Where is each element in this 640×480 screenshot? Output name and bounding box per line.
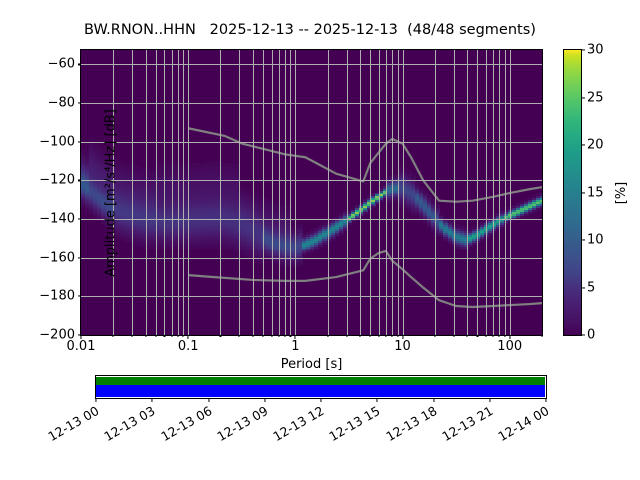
- x-tick-mark: [370, 335, 371, 337]
- y-axis-label: Amplitude [m²/s⁴/Hz] [dB]: [104, 93, 119, 293]
- x-tick-mark: [290, 335, 291, 337]
- gridline-horizontal: [81, 258, 542, 259]
- gridline-vertical: [486, 50, 487, 335]
- timeline-plot-area: [96, 376, 546, 398]
- x-tick-mark: [385, 335, 386, 337]
- gridline-horizontal: [81, 103, 542, 104]
- x-tick-mark: [434, 335, 435, 337]
- gridline-vertical: [505, 50, 506, 335]
- x-tick-mark: [346, 335, 347, 337]
- y-tick-label: −180: [39, 289, 75, 304]
- coverage-bar-data: [96, 385, 545, 397]
- x-tick-mark: [177, 335, 178, 337]
- x-axis-label: Period [s]: [81, 357, 542, 372]
- x-tick-mark: [239, 335, 240, 337]
- gridline-vertical: [164, 50, 165, 335]
- timeline-tick-label: 12-13 03: [102, 403, 158, 444]
- gridline-vertical: [467, 50, 468, 335]
- gridline-vertical: [398, 50, 399, 335]
- timeline-tick-mark: [433, 398, 434, 402]
- y-tick-mark: [78, 64, 82, 65]
- y-tick-label: −100: [39, 134, 75, 149]
- y-tick-label: −60: [48, 57, 75, 72]
- timeline-tick-label: 12-13 00: [45, 403, 101, 444]
- x-tick-mark: [485, 335, 486, 337]
- x-tick-mark: [359, 335, 360, 337]
- colorbar-tick-mark: [581, 239, 585, 240]
- x-tick-mark: [164, 335, 165, 337]
- timeline-tick-label: 12-13 06: [158, 403, 214, 444]
- gridline-vertical: [183, 50, 184, 335]
- colorbar-tick-mark: [581, 287, 585, 288]
- timeline-tick-mark: [95, 398, 96, 402]
- x-tick-mark: [327, 335, 328, 337]
- gridline-vertical: [156, 50, 157, 335]
- y-tick-label: −80: [48, 96, 75, 111]
- colorbar-label: [%]: [614, 181, 629, 204]
- colorbar-tick-label: 30: [587, 43, 604, 58]
- gridline-vertical: [290, 50, 291, 335]
- y-tick-label: −120: [39, 173, 75, 188]
- gridline-horizontal: [81, 296, 542, 297]
- x-tick-mark: [477, 335, 478, 337]
- colorbar-tick-label: 25: [587, 90, 604, 105]
- x-tick-mark: [284, 335, 285, 337]
- gridline-vertical: [386, 50, 387, 335]
- gridline-vertical: [295, 50, 296, 335]
- timeline-tick-mark: [208, 398, 209, 402]
- gridline-vertical: [263, 50, 264, 335]
- colorbar-tick-label: 15: [587, 185, 604, 200]
- gridline-vertical: [510, 50, 511, 335]
- x-tick-mark: [113, 335, 114, 337]
- colorbar-tick-mark: [581, 97, 585, 98]
- gridline-vertical: [188, 50, 189, 335]
- x-tick-mark: [80, 335, 81, 339]
- x-tick-mark: [493, 335, 494, 337]
- timeline-tick-mark: [489, 398, 490, 402]
- y-tick-label: −160: [39, 250, 75, 265]
- y-tick-mark: [78, 296, 82, 297]
- gridline-vertical: [328, 50, 329, 335]
- gridline-vertical: [499, 50, 500, 335]
- gridline-vertical: [454, 50, 455, 335]
- timeline-tick-mark: [545, 398, 546, 402]
- gridline-vertical: [272, 50, 273, 335]
- colorbar-tick-label: 5: [587, 280, 595, 295]
- gridline-horizontal: [81, 142, 542, 143]
- page-title: BW.RNON..HHN 2025-12-13 -- 2025-12-13 (4…: [0, 22, 620, 38]
- gridline-vertical: [370, 50, 371, 335]
- x-tick-mark: [295, 335, 296, 339]
- x-tick-mark: [509, 335, 510, 339]
- colorbar-tick-label: 10: [587, 233, 604, 248]
- y-tick-mark: [78, 257, 82, 258]
- gridline-vertical: [493, 50, 494, 335]
- x-tick-mark: [541, 335, 542, 337]
- gridline-vertical: [239, 50, 240, 335]
- x-tick-mark: [504, 335, 505, 337]
- gridline-vertical: [477, 50, 478, 335]
- x-tick-mark: [263, 335, 264, 337]
- timeline-tick-label: 12-13 09: [214, 403, 270, 444]
- y-tick-mark: [78, 219, 82, 220]
- gridline-vertical: [285, 50, 286, 335]
- colorbar-tick-mark: [581, 49, 585, 50]
- colorbar: [%] 051015202530: [563, 49, 582, 336]
- gridline-horizontal: [81, 180, 542, 181]
- timeline-tick-mark: [320, 398, 321, 402]
- y-tick-mark: [78, 103, 82, 104]
- colorbar-tick-mark: [581, 334, 585, 335]
- gridline-vertical: [146, 50, 147, 335]
- x-tick-mark: [220, 335, 221, 337]
- timeline-tick-label: 12-13 15: [327, 403, 383, 444]
- colorbar-tick-label: 20: [587, 138, 604, 153]
- ppsd-plot-area: [81, 50, 542, 335]
- timeline-tick-mark: [264, 398, 265, 402]
- colorbar-tick-mark: [581, 144, 585, 145]
- x-tick-label: 0.1: [178, 339, 199, 354]
- y-tick-mark: [78, 180, 82, 181]
- x-tick-mark: [402, 335, 403, 339]
- gridline-vertical: [435, 50, 436, 335]
- coverage-bar-psd: [96, 377, 545, 385]
- high-noise-model-line: [188, 128, 542, 201]
- y-tick-mark: [78, 141, 82, 142]
- low-noise-model-line: [188, 251, 542, 307]
- x-tick-mark: [252, 335, 253, 337]
- gridline-vertical: [220, 50, 221, 335]
- gridline-vertical: [392, 50, 393, 335]
- gridline-vertical: [347, 50, 348, 335]
- x-tick-mark: [171, 335, 172, 337]
- timeline-tick-label: 12-13 18: [383, 403, 439, 444]
- x-tick-mark: [378, 335, 379, 337]
- x-tick-mark: [132, 335, 133, 337]
- gridline-horizontal: [81, 219, 542, 220]
- ppsd-plot-axes: Amplitude [m²/s⁴/Hz] [dB] Period [s] −60…: [80, 49, 543, 336]
- x-tick-label: 100: [497, 339, 522, 354]
- timeline-tick-mark: [377, 398, 378, 402]
- x-tick-mark: [188, 335, 189, 339]
- x-tick-mark: [155, 335, 156, 337]
- x-tick-label: 0.01: [67, 339, 96, 354]
- x-tick-mark: [183, 335, 184, 337]
- x-tick-mark: [271, 335, 272, 337]
- noise-model-curves: [81, 50, 542, 335]
- gridline-horizontal: [81, 64, 542, 65]
- x-tick-label: 10: [394, 339, 411, 354]
- data-coverage-timeline: 12-13 0012-13 0312-13 0612-13 0912-13 12…: [95, 375, 547, 399]
- timeline-tick-label: 12-14 00: [495, 403, 551, 444]
- x-tick-mark: [145, 335, 146, 337]
- y-tick-label: −140: [39, 212, 75, 227]
- timeline-tick-mark: [152, 398, 153, 402]
- x-tick-mark: [397, 335, 398, 337]
- x-tick-mark: [467, 335, 468, 337]
- gridline-vertical: [132, 50, 133, 335]
- colorbar-tick-mark: [581, 192, 585, 193]
- timeline-tick-label: 12-13 12: [270, 403, 326, 444]
- gridline-vertical: [172, 50, 173, 335]
- x-tick-mark: [453, 335, 454, 337]
- gridline-vertical: [360, 50, 361, 335]
- x-tick-mark: [499, 335, 500, 337]
- timeline-tick-label: 12-13 21: [439, 403, 495, 444]
- x-tick-mark: [278, 335, 279, 337]
- gridline-vertical: [279, 50, 280, 335]
- colorbar-tick-label: 0: [587, 328, 595, 343]
- gridline-vertical: [403, 50, 404, 335]
- gridline-vertical: [253, 50, 254, 335]
- x-tick-mark: [392, 335, 393, 337]
- x-tick-label: 1: [291, 339, 299, 354]
- gridline-vertical: [178, 50, 179, 335]
- gridline-vertical: [379, 50, 380, 335]
